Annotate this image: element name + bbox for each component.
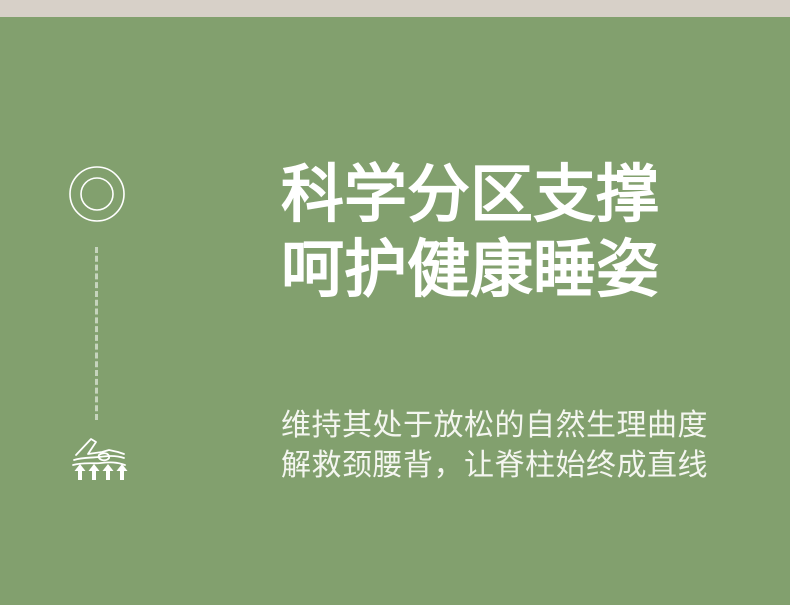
person-lying-on-mattress-support-icon — [69, 433, 129, 481]
subhead-line-2: 解救颈腰背，让脊柱始终成直线 — [281, 446, 751, 486]
top-accent-band — [0, 0, 790, 17]
decorative-rail — [68, 165, 128, 485]
headline-line-2: 呵护健康睡姿 — [281, 233, 751, 308]
subhead-line-1: 维持其处于放松的自然生理曲度 — [281, 406, 751, 446]
headline-line-1: 科学分区支撑 — [281, 158, 751, 233]
product-feature-banner: 科学分区支撑 呵护健康睡姿 维持其处于放松的自然生理曲度 解救颈腰背，让脊柱始终… — [0, 0, 790, 605]
subtitle-block: 维持其处于放松的自然生理曲度 解救颈腰背，让脊柱始终成直线 — [281, 406, 751, 486]
concentric-circles-icon — [68, 165, 126, 223]
page-title: 科学分区支撑 呵护健康睡姿 — [281, 158, 751, 308]
vertical-dashed-divider — [95, 247, 98, 420]
